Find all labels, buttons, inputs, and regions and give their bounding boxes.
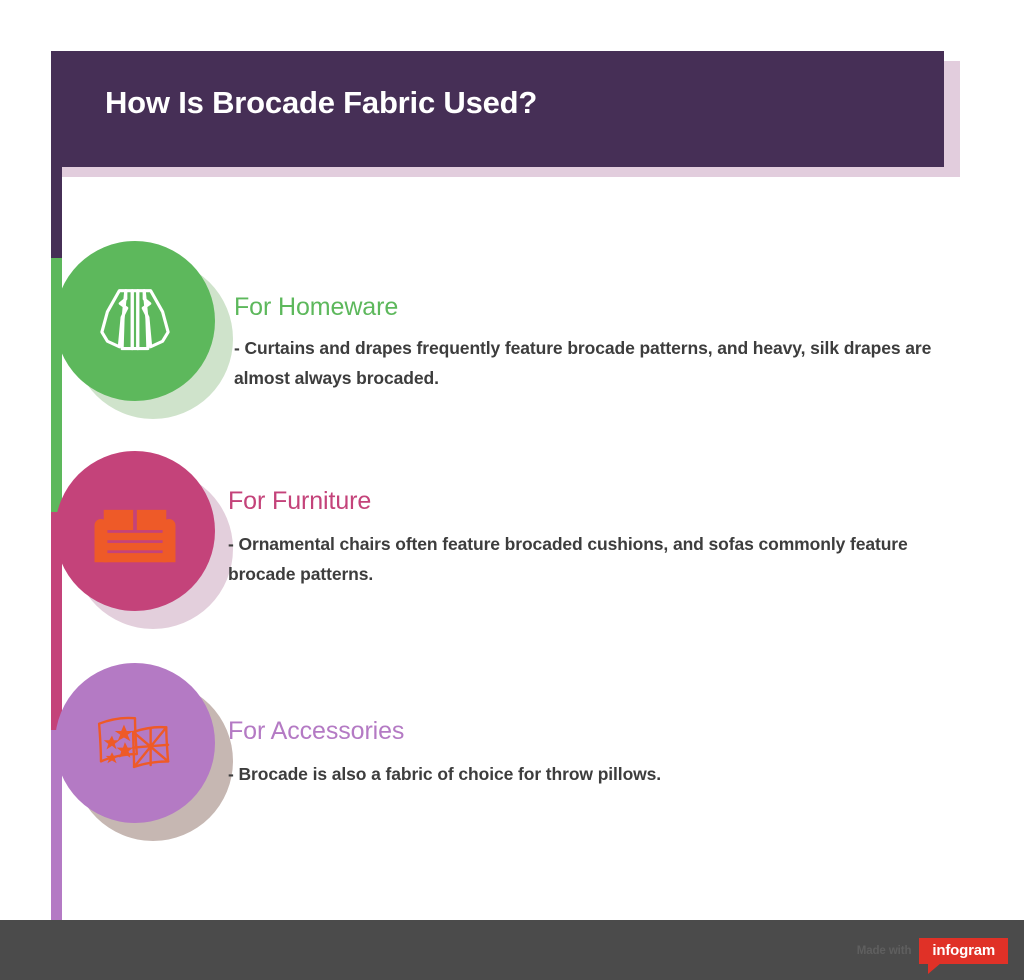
- furniture-text-block: For Furniture - Ornamental chairs often …: [228, 488, 928, 589]
- curtains-icon: [89, 275, 181, 367]
- homeware-badge: [50, 236, 235, 411]
- homeware-body: - Curtains and drapes frequently feature…: [234, 333, 934, 393]
- infographic-canvas: How Is Brocade Fabric Used?: [0, 0, 1024, 980]
- timeline-segment-header: [51, 51, 62, 258]
- furniture-badge-circle: [55, 451, 215, 611]
- furniture-body: - Ornamental chairs often feature brocad…: [228, 529, 928, 589]
- accessories-badge-circle: [55, 663, 215, 823]
- homeware-badge-circle: [55, 241, 215, 401]
- accessories-badge: [50, 658, 235, 833]
- homeware-text-block: For Homeware - Curtains and drapes frequ…: [228, 294, 934, 393]
- accessories-heading: For Accessories: [228, 718, 928, 746]
- sofa-icon: [89, 485, 181, 577]
- furniture-badge: [50, 446, 235, 621]
- made-with-label: Made with: [857, 945, 912, 957]
- furniture-heading: For Furniture: [228, 488, 928, 516]
- pillows-icon: [89, 697, 181, 789]
- homeware-heading: For Homeware: [234, 294, 934, 322]
- accessories-body: - Brocade is also a fabric of choice for…: [228, 759, 928, 789]
- infogram-logo[interactable]: infogram: [919, 938, 1008, 964]
- page-title: How Is Brocade Fabric Used?: [105, 85, 537, 121]
- accessories-text-block: For Accessories - Brocade is also a fabr…: [228, 718, 928, 789]
- footer-credit[interactable]: Made with infogram: [857, 936, 1008, 966]
